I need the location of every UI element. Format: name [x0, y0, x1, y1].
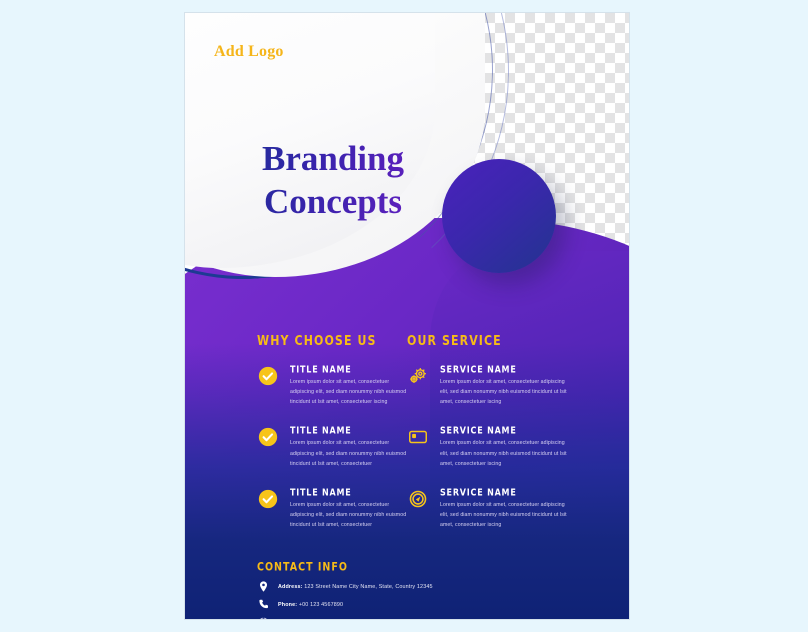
contact-address-value: 123 Street Name City Name, State, Countr… — [304, 584, 432, 590]
contact-row-address: Address: 123 Street Name City Name, Stat… — [257, 580, 587, 593]
why-choose-us-heading: WHY CHOOSE US — [257, 333, 407, 348]
location-pin-icon — [257, 580, 270, 593]
compass-badge-icon — [407, 488, 429, 510]
list-item: TITLE NAME Lorem ipsum dolor sit amet, c… — [257, 425, 407, 468]
list-item: SERVICE NAME Lorem ipsum dolor sit amet,… — [407, 425, 572, 468]
phone-icon — [257, 598, 270, 611]
list-item-text: Lorem ipsum dolor sit amet, consectetuer… — [440, 438, 572, 468]
list-item-title: SERVICE NAME — [440, 364, 572, 375]
title-line-2: Concepts — [223, 180, 443, 223]
contact-address-text: Address: 123 Street Name City Name, Stat… — [278, 584, 433, 590]
contact-info-section: CONTACT INFO Address: 123 Street Name Ci… — [257, 561, 587, 619]
logo-placeholder[interactable]: Add Logo — [214, 43, 284, 61]
poster-canvas: Add Logo Branding Concepts WHY CHOOSE US… — [185, 13, 629, 619]
list-item: SERVICE NAME Lorem ipsum dolor sit amet,… — [407, 487, 572, 530]
list-item-title: TITLE NAME — [290, 425, 407, 436]
contact-row-phone: Phone: +00 123 4567890 — [257, 598, 587, 611]
list-item-text: Lorem ipsum dolor sit amet, consectetuer… — [290, 500, 407, 530]
contact-phone-text: Phone: +00 123 4567890 — [278, 602, 343, 608]
monitor-icon — [407, 426, 429, 448]
gears-icon — [407, 365, 429, 387]
our-service-column: OUR SERVICE — [407, 333, 572, 548]
list-item-title: TITLE NAME — [290, 364, 407, 375]
list-item-text: Lorem ipsum dolor sit amet, consectetuer… — [290, 438, 407, 468]
check-circle-icon — [257, 365, 279, 387]
contact-phone-label: Phone: — [278, 602, 297, 608]
title-line-1: Branding — [223, 137, 443, 180]
contact-phone-value: +00 123 4567890 — [299, 602, 343, 608]
check-circle-icon — [257, 488, 279, 510]
list-item-title: SERVICE NAME — [440, 425, 572, 436]
globe-icon — [257, 616, 270, 619]
contact-row-website: Website: www.example.com — [257, 616, 587, 619]
contact-address-label: Address: — [278, 584, 303, 590]
list-item: SERVICE NAME Lorem ipsum dolor sit amet,… — [407, 364, 572, 407]
contact-info-heading: CONTACT INFO — [257, 561, 587, 574]
list-item-text: Lorem ipsum dolor sit amet, consectetuer… — [290, 377, 407, 407]
check-circle-icon — [257, 426, 279, 448]
list-item-title: SERVICE NAME — [440, 487, 572, 498]
page-title: Branding Concepts — [223, 137, 443, 224]
our-service-heading: OUR SERVICE — [407, 333, 572, 348]
why-choose-us-column: WHY CHOOSE US TITLE NAME Lorem ipsum dol… — [257, 333, 407, 548]
list-item-title: TITLE NAME — [290, 487, 407, 498]
list-item: TITLE NAME Lorem ipsum dolor sit amet, c… — [257, 364, 407, 407]
list-item-text: Lorem ipsum dolor sit amet, consectetuer… — [440, 377, 572, 407]
list-item: TITLE NAME Lorem ipsum dolor sit amet, c… — [257, 487, 407, 530]
list-item-text: Lorem ipsum dolor sit amet, consectetuer… — [440, 500, 572, 530]
